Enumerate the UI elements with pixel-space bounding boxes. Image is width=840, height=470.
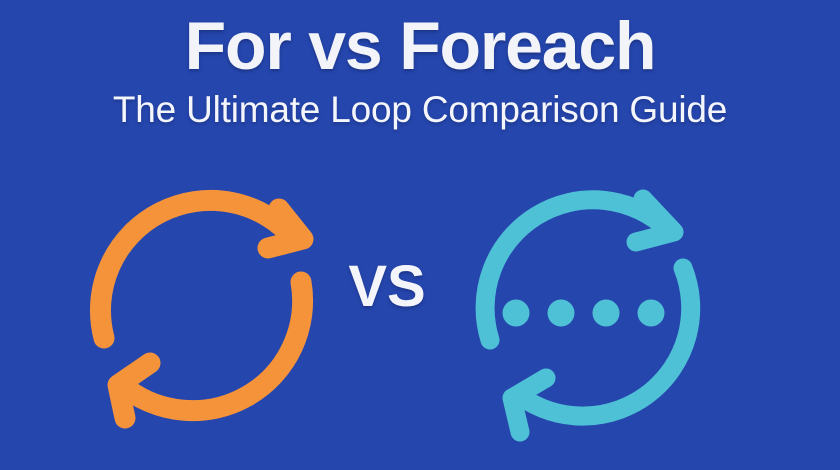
foreach-loop-circular-arrow-dots-icon	[468, 170, 718, 450]
foreach-dot	[638, 300, 665, 327]
comparison-icon-stage: VS	[0, 160, 840, 460]
for-loop-icon-wrapper	[78, 170, 328, 445]
header-text-block: For vs Foreach The Ultimate Loop Compari…	[0, 0, 840, 132]
versus-label: VS	[332, 256, 442, 318]
foreach-loop-icon-wrapper	[468, 170, 718, 455]
foreach-dot	[503, 300, 530, 327]
page-title: For vs Foreach	[0, 8, 840, 84]
for-loop-circular-arrow-icon	[78, 170, 328, 440]
foreach-dot	[548, 300, 575, 327]
page-subtitle: The Ultimate Loop Comparison Guide	[0, 88, 840, 132]
thumbnail-canvas: For vs Foreach The Ultimate Loop Compari…	[0, 0, 840, 470]
foreach-dot	[593, 300, 620, 327]
